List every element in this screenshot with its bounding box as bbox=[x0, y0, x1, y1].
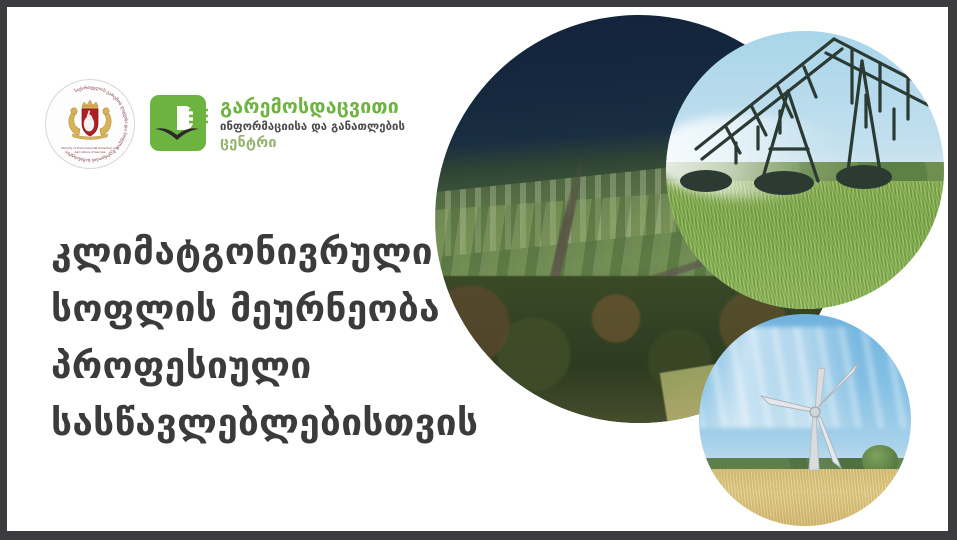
valley-harvested-field bbox=[660, 343, 843, 423]
eiec-logo: გარემოსდაცვითი ინფორმაციისა და განათლები… bbox=[149, 93, 405, 155]
valley-forest bbox=[435, 276, 843, 423]
photo-circle-wind-turbine-field bbox=[699, 314, 911, 526]
wind-clouds bbox=[699, 327, 911, 429]
wind-treeline bbox=[699, 458, 911, 471]
eiec-logo-line3: ცენტრი bbox=[220, 136, 405, 151]
georgia-coat-of-arms-icon bbox=[64, 98, 116, 140]
irrigation-water-spray bbox=[666, 114, 849, 197]
poster-canvas: საქართველოს გარემოს დაცვისა და სოფლის მე… bbox=[7, 7, 948, 531]
valley-upper-fields bbox=[435, 145, 843, 261]
irrigation-green-wheat-field bbox=[666, 181, 944, 309]
irrigation-sky bbox=[666, 31, 944, 309]
open-book-logo-icon bbox=[149, 93, 211, 155]
emblem-caption: Ministry of Environmental Protection and… bbox=[46, 147, 134, 154]
center-pivot-irrigation-machine-icon bbox=[666, 31, 944, 309]
wind-turbine-icon bbox=[699, 314, 911, 526]
eiec-logo-text: გარემოსდაცვითი ინფორმაციისა და განათლები… bbox=[220, 97, 405, 150]
branding-row: საქართველოს გარემოს დაცვისა და სოფლის მე… bbox=[45, 79, 405, 169]
headline-line-2: სოფლის მეურნეობა bbox=[51, 280, 471, 337]
headline-line-3: პროფესიული bbox=[51, 337, 471, 394]
photo-circle-valley-landscape bbox=[435, 15, 843, 423]
valley-terrain bbox=[435, 15, 843, 423]
wind-golden-wheat-field bbox=[699, 469, 911, 526]
photo-circle-irrigation-wheat-field bbox=[666, 31, 944, 309]
eiec-logo-line1: გარემოსდაცვითი bbox=[220, 97, 405, 117]
headline-line-4: სასწავლებლებისთვის bbox=[51, 394, 471, 451]
wind-sky bbox=[699, 314, 911, 526]
valley-patchwork-fields bbox=[435, 178, 843, 333]
ministry-emblem: საქართველოს გარემოს დაცვისა და სოფლის მე… bbox=[45, 79, 135, 169]
irrigation-horizon-treeline bbox=[666, 162, 944, 181]
valley-secondary-road bbox=[585, 239, 766, 304]
wind-bush bbox=[862, 445, 898, 475]
headline-line-1: კლიმატგონივრული bbox=[51, 223, 471, 280]
poster-banner: საქართველოს გარემოს დაცვისა და სოფლის მე… bbox=[0, 0, 957, 540]
page-title: კლიმატგონივრული სოფლის მეურნეობა პროფესი… bbox=[51, 223, 471, 451]
eiec-logo-line2: ინფორმაციისა და განათლების bbox=[220, 121, 405, 132]
valley-road bbox=[521, 156, 588, 405]
